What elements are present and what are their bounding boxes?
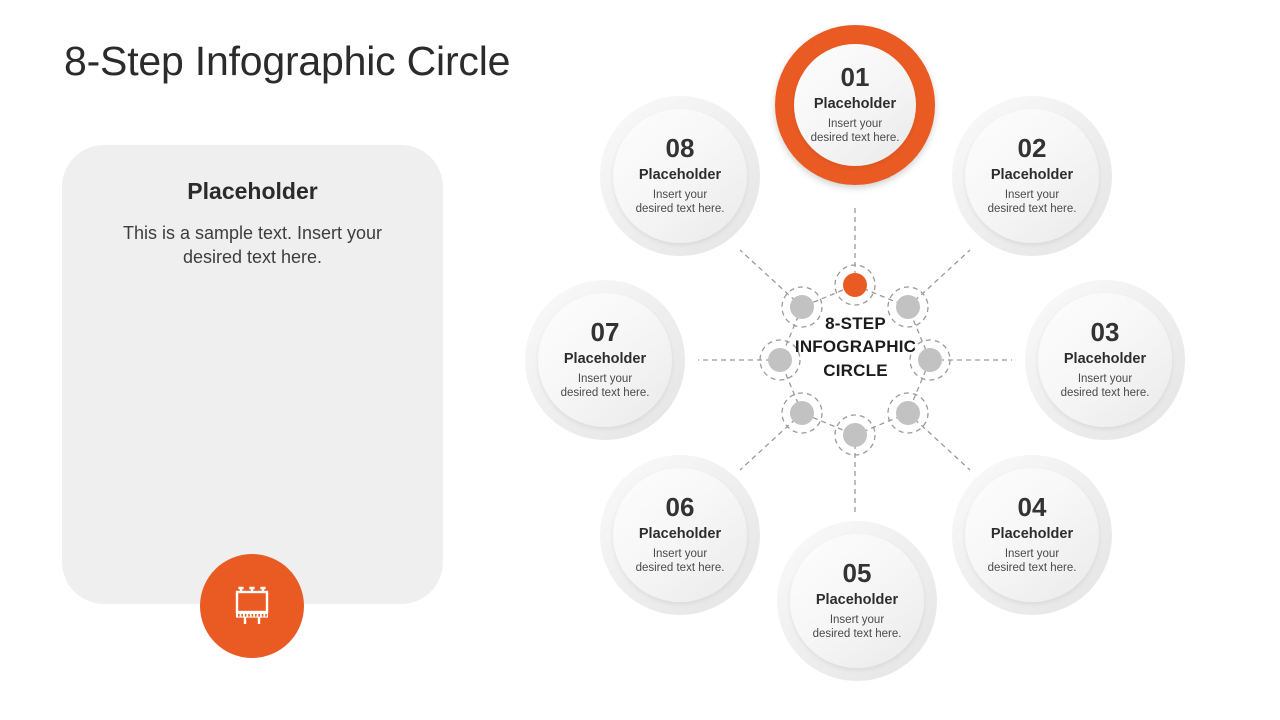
step-number: 02 bbox=[1018, 135, 1047, 161]
step-content: 05 Placeholder Insert your desired text … bbox=[790, 534, 924, 668]
step-content: 07 Placeholder Insert your desired text … bbox=[538, 293, 672, 427]
step-content: 01 Placeholder Insert your desired text … bbox=[794, 44, 916, 166]
hub-node-04 bbox=[888, 393, 928, 433]
step-number: 04 bbox=[1018, 494, 1047, 520]
step-description: Insert your desired text here. bbox=[561, 372, 650, 401]
step-content: 06 Placeholder Insert your desired text … bbox=[613, 468, 747, 602]
step-description-line-2: desired text here. bbox=[988, 561, 1077, 576]
hub-label-line-3: CIRCLE bbox=[778, 359, 933, 382]
step-description: Insert your desired text here. bbox=[1061, 372, 1150, 401]
left-panel-body-text: This is a sample text. Insert your desir… bbox=[106, 221, 399, 270]
step-description-line-1: Insert your bbox=[636, 547, 725, 562]
step-node-08[interactable]: 08 Placeholder Insert your desired text … bbox=[600, 96, 760, 256]
infographic-circle-diagram: 8-STEP INFOGRAPHIC CIRCLE 01 Placeholder… bbox=[500, 0, 1280, 720]
step-description-line-1: Insert your bbox=[988, 547, 1077, 562]
step-description: Insert your desired text here. bbox=[636, 188, 725, 217]
step-description: Insert your desired text here. bbox=[636, 547, 725, 576]
step-description-line-1: Insert your bbox=[561, 372, 650, 387]
step-description: Insert your desired text here. bbox=[988, 547, 1077, 576]
hub-label-line-2: INFOGRAPHIC bbox=[778, 335, 933, 358]
step-node-07[interactable]: 07 Placeholder Insert your desired text … bbox=[525, 280, 685, 440]
step-description-line-1: Insert your bbox=[813, 613, 902, 628]
left-content-panel: Placeholder This is a sample text. Inser… bbox=[62, 145, 443, 604]
step-node-03[interactable]: 03 Placeholder Insert your desired text … bbox=[1025, 280, 1185, 440]
step-content: 03 Placeholder Insert your desired text … bbox=[1038, 293, 1172, 427]
step-description-line-1: Insert your bbox=[811, 117, 900, 132]
page-title: 8-Step Infographic Circle bbox=[64, 38, 510, 85]
step-description: Insert your desired text here. bbox=[811, 117, 900, 146]
step-number: 05 bbox=[843, 560, 872, 586]
step-title: Placeholder bbox=[639, 168, 721, 183]
step-title: Placeholder bbox=[991, 527, 1073, 542]
step-title: Placeholder bbox=[564, 352, 646, 367]
step-description-line-1: Insert your bbox=[988, 188, 1077, 203]
step-title: Placeholder bbox=[816, 593, 898, 608]
step-description-line-2: desired text here. bbox=[813, 627, 902, 642]
step-content: 08 Placeholder Insert your desired text … bbox=[613, 109, 747, 243]
left-panel-heading: Placeholder bbox=[62, 178, 443, 205]
hub-label: 8-STEP INFOGRAPHIC CIRCLE bbox=[778, 312, 933, 382]
step-number: 06 bbox=[666, 494, 695, 520]
step-description-line-1: Insert your bbox=[636, 188, 725, 203]
step-title: Placeholder bbox=[814, 97, 896, 112]
hub-node-06 bbox=[782, 393, 822, 433]
step-title: Placeholder bbox=[991, 168, 1073, 183]
step-node-01[interactable]: 01 Placeholder Insert your desired text … bbox=[775, 25, 935, 185]
step-node-04[interactable]: 04 Placeholder Insert your desired text … bbox=[952, 455, 1112, 615]
billboard-icon-badge[interactable] bbox=[200, 554, 304, 658]
step-node-06[interactable]: 06 Placeholder Insert your desired text … bbox=[600, 455, 760, 615]
step-node-05[interactable]: 05 Placeholder Insert your desired text … bbox=[777, 521, 937, 681]
step-description: Insert your desired text here. bbox=[813, 613, 902, 642]
step-number: 08 bbox=[666, 135, 695, 161]
step-description-line-1: Insert your bbox=[1061, 372, 1150, 387]
step-content: 04 Placeholder Insert your desired text … bbox=[965, 468, 1099, 602]
step-description: Insert your desired text here. bbox=[988, 188, 1077, 217]
step-number: 03 bbox=[1091, 319, 1120, 345]
step-number: 01 bbox=[841, 64, 870, 90]
step-node-02[interactable]: 02 Placeholder Insert your desired text … bbox=[952, 96, 1112, 256]
step-description-line-2: desired text here. bbox=[636, 561, 725, 576]
step-description-line-2: desired text here. bbox=[636, 202, 725, 217]
step-description-line-2: desired text here. bbox=[811, 131, 900, 146]
step-content: 02 Placeholder Insert your desired text … bbox=[965, 109, 1099, 243]
step-description-line-2: desired text here. bbox=[1061, 386, 1150, 401]
step-title: Placeholder bbox=[1064, 352, 1146, 367]
step-number: 07 bbox=[591, 319, 620, 345]
step-description-line-2: desired text here. bbox=[561, 386, 650, 401]
billboard-icon bbox=[226, 580, 278, 632]
step-title: Placeholder bbox=[639, 527, 721, 542]
step-description-line-2: desired text here. bbox=[988, 202, 1077, 217]
hub-label-line-1: 8-STEP bbox=[778, 312, 933, 335]
